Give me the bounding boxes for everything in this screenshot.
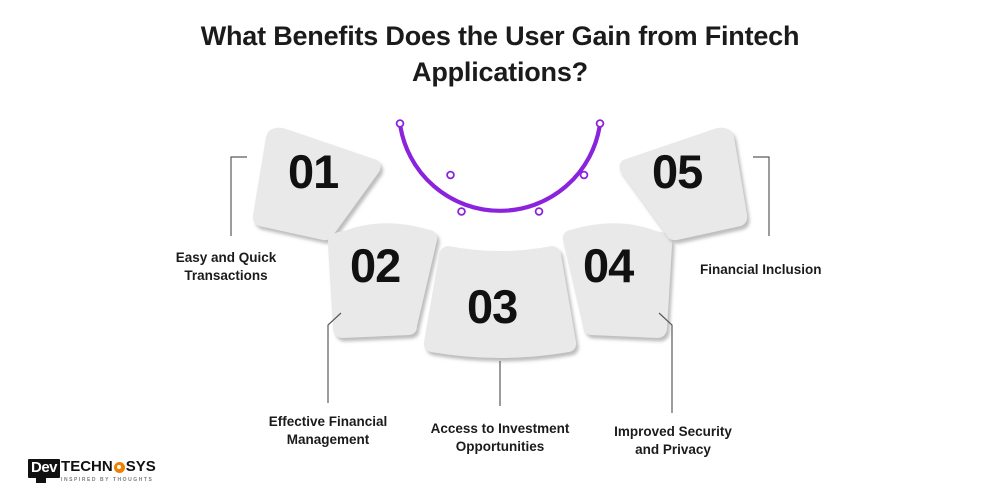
petal-number-05: 05 xyxy=(652,148,702,195)
logo-wordmark: TECHN SYS INSPIRED BY THOUGHTS xyxy=(61,459,156,483)
arc-marker-6 xyxy=(597,120,604,127)
petal-label-04: Improved Security and Privacy xyxy=(593,423,753,459)
logo-word-row: TECHN SYS xyxy=(61,459,156,476)
purple-arc-group xyxy=(397,120,604,215)
arc-marker-4 xyxy=(536,208,543,215)
connector-05 xyxy=(753,157,769,236)
petal-number-03: 03 xyxy=(467,283,517,330)
arc-marker-5 xyxy=(581,172,588,179)
petal-label-03: Access to Investment Opportunities xyxy=(416,420,584,456)
connector-01 xyxy=(231,157,247,236)
arc-marker-2 xyxy=(447,172,454,179)
arc-marker-1 xyxy=(397,120,404,127)
petal-number-04: 04 xyxy=(583,242,633,289)
petal-label-01: Easy and Quick Transactions xyxy=(150,249,302,285)
logo-word-techn: TECHN xyxy=(61,459,113,476)
devtechnosys-logo[interactable]: Dev TECHN SYS INSPIRED BY THOUGHTS xyxy=(28,459,156,489)
logo-word-sys: SYS xyxy=(126,459,156,476)
arc-marker-3 xyxy=(458,208,465,215)
gear-icon xyxy=(114,462,125,473)
logo-monitor-mark: Dev xyxy=(28,459,60,478)
petal-number-02: 02 xyxy=(350,242,400,289)
purple-arc xyxy=(400,124,600,211)
petal-label-05: Financial Inclusion xyxy=(700,261,848,279)
petal-number-01: 01 xyxy=(288,148,338,195)
petal-label-02: Effective Financial Management xyxy=(249,413,407,449)
infographic-canvas: What Benefits Does the User Gain from Fi… xyxy=(0,0,1000,500)
logo-tagline: INSPIRED BY THOUGHTS xyxy=(61,477,156,483)
